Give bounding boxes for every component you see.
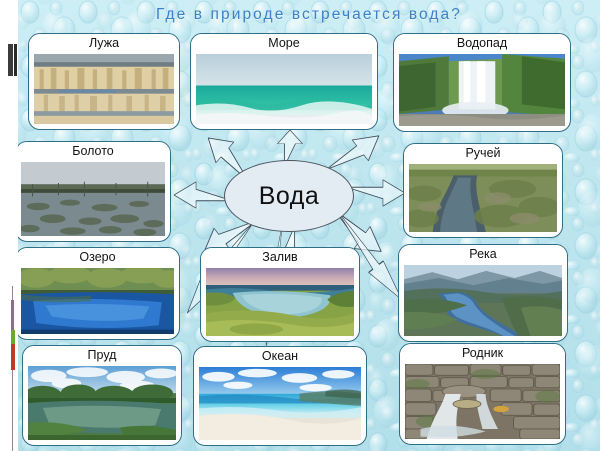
gutter-mark-green (11, 330, 15, 344)
center-node-voda[interactable]: Вода (224, 160, 354, 232)
card-image-bay (206, 268, 354, 336)
card-zaliv[interactable]: Залив (200, 247, 360, 342)
card-label-zaliv: Залив (201, 248, 359, 266)
card-luzha[interactable]: Лужа (28, 33, 180, 130)
center-node-label: Вода (224, 160, 354, 232)
card-image-lake (21, 268, 174, 334)
card-image-ocean (199, 367, 361, 440)
card-label-reka: Река (399, 245, 567, 263)
card-image-stream (409, 164, 557, 232)
card-ozero[interactable]: Озеро (15, 247, 180, 340)
card-label-prud: Пруд (23, 346, 181, 364)
card-label-okean: Океан (194, 347, 366, 365)
card-label-vodopad: Водопад (394, 34, 570, 52)
gutter-mark-red (11, 344, 15, 370)
card-boloto[interactable]: Болото (15, 141, 171, 242)
card-image-river (404, 265, 562, 336)
card-image-swamp (21, 162, 165, 236)
card-label-ruchey: Ручей (404, 144, 562, 162)
card-image-pond (28, 366, 176, 440)
card-image-puddle (34, 54, 174, 124)
card-image-sea (196, 54, 372, 124)
card-ruchey[interactable]: Ручей (403, 143, 563, 238)
card-image-spring (405, 364, 560, 439)
card-reka[interactable]: Река (398, 244, 568, 342)
card-label-more: Море (191, 34, 377, 52)
card-label-luzha: Лужа (29, 34, 179, 52)
card-more[interactable]: Море (190, 33, 378, 130)
gutter-mark-dark-secondary (14, 44, 17, 76)
gutter-mark-dark (8, 44, 13, 76)
card-prud[interactable]: Пруд (22, 345, 182, 446)
slide-title: Где в природе встречается вода? (18, 6, 600, 24)
card-label-rodnik: Родник (400, 344, 565, 362)
card-label-ozero: Озеро (16, 248, 179, 266)
card-vodopad[interactable]: Водопад (393, 33, 571, 132)
card-rodnik[interactable]: Родник (399, 343, 566, 445)
card-image-waterfall (399, 54, 565, 126)
card-okean[interactable]: Океан (193, 346, 367, 446)
card-label-boloto: Болото (16, 142, 170, 160)
slide-canvas: Где в природе встречается вода? (0, 0, 600, 451)
